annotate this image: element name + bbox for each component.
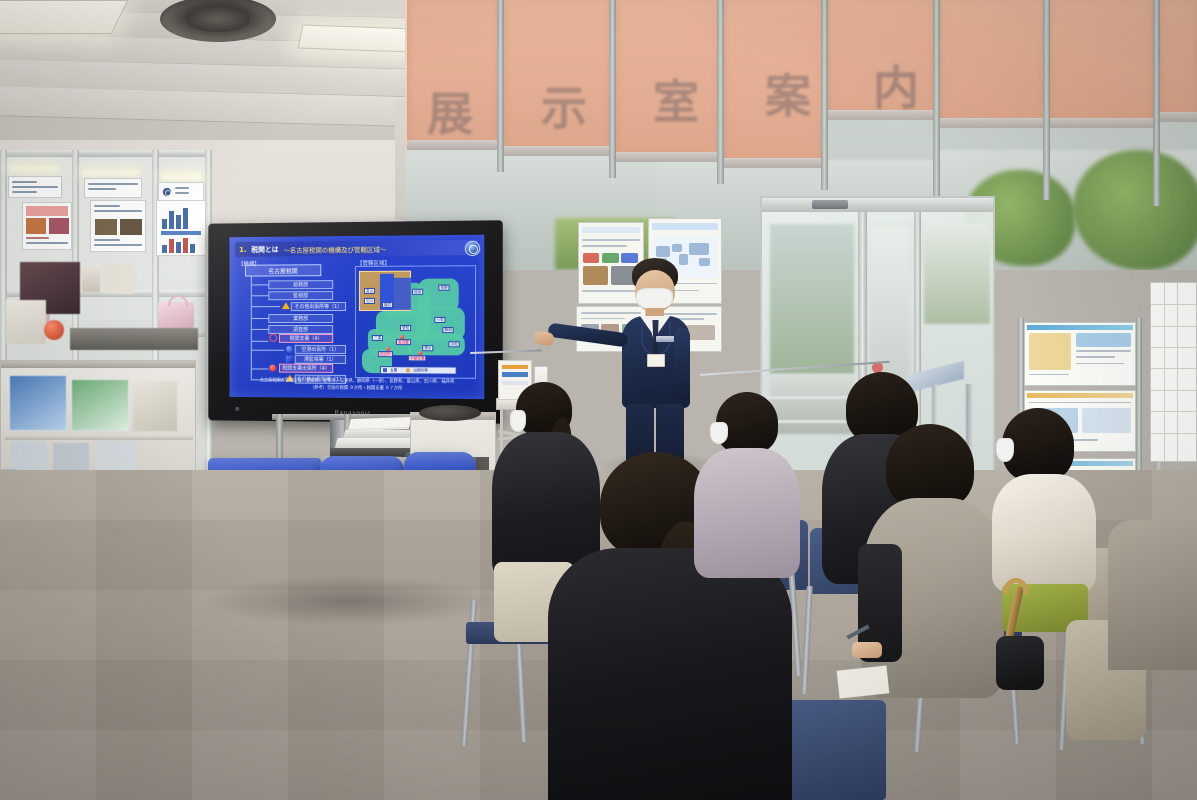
map-chip: 石川 [364,298,375,305]
customs-emblem-icon [162,187,172,197]
map-chip: 小牧 [434,317,445,324]
org-node: 港監視署（1） [295,355,346,364]
face-mask [510,410,526,432]
exhibit-poster [9,375,67,431]
attendee-top [694,448,800,578]
presenter-hand [533,331,555,347]
exhibit-photo-poster [90,200,146,252]
map-chip: 三重 [372,335,383,342]
legend-square-icon [383,368,387,372]
power-led-icon [235,407,239,411]
cable-bundle [419,405,481,421]
wall-sign-char: 室 [653,66,699,132]
handout-papers [349,417,412,429]
org-node: 調査部 [268,325,333,334]
map-inset: 富山 石川 福井 [359,271,411,311]
marker-square-blue-icon [286,356,293,363]
face-mask [636,288,673,310]
side-shelf [0,360,196,482]
presenter-arm [674,328,690,402]
org-node: 業務部 [268,314,333,323]
exhibit-poster [84,178,142,198]
roller-blind[interactable] [1047,0,1157,128]
exhibit-poster [71,379,129,431]
org-node: 総務部 [268,280,333,289]
attendee-hand [852,642,882,658]
attendee-top [992,474,1096,592]
org-root-node: 名古屋税関 [245,264,321,276]
notepad [837,665,890,698]
marker-ring-red-icon [269,334,277,342]
schedule-whiteboard [1150,282,1197,462]
map-chip: 中部空港 [408,355,427,362]
ceiling-light [0,0,128,34]
customs-emblem-icon [465,241,480,256]
org-node: 空港出張所（1） [295,345,346,354]
org-chart: 名古屋税関 総務部 監視部 その他出張所等（1） 業務部 調査部 税関 [239,264,349,384]
wall-sign-char: 示 [541,72,587,138]
plasma-display[interactable]: 1. 税関とは 〜名古屋税関の機構及び管轄区域〜 【機構】 【管轄区域】 名古屋… [208,220,502,423]
rack-poster [1024,322,1136,386]
map-chip: 清水 [422,345,433,352]
map-chip: 愛知 [400,325,411,332]
map-pin-icon [386,347,390,351]
map-chip: 静岡 [442,327,453,334]
legend-label: 支署 [390,368,397,373]
map-legend: 支署 出張所等 [380,366,457,374]
slide-title-bar: 1. 税関とは 〜名古屋税関の機構及び管轄区域〜 [235,240,478,257]
legend-label: 出張所等 [413,368,428,373]
org-node: 税関支署出張所（4） [279,364,333,373]
id-card [647,354,665,367]
jurisdiction-map: 富山 石川 福井 岐阜 長野 愛知 静岡 三重 名古屋 四日市 清水 浜松 中部… [355,265,476,379]
slide-title: 税関とは [251,244,278,254]
marker-dot-red-icon [269,365,276,372]
face-mask [710,422,728,444]
attendee-right-vest [862,424,1012,714]
wall-sign-char: 展 [427,78,473,144]
wall-sign-char: 内 [873,52,919,118]
legend-circle-icon [406,368,410,372]
exhibit-item [44,320,64,340]
warning-icon [282,302,290,309]
map-chip: 長野 [438,285,449,292]
map-chip: 浜松 [449,341,460,348]
map-chip: 名古屋 [396,339,411,346]
slide-subtitle: 〜名古屋税関の機構及び管轄区域〜 [283,243,386,254]
map-pin-icon [418,351,422,355]
wall-sign-char: 案 [765,60,811,126]
attendee-far-right [1108,520,1197,720]
map-chip: 福井 [382,302,393,309]
map-pin-icon [400,335,404,339]
org-node: その他出張所等（1） [291,302,346,311]
face-mask [996,438,1014,462]
slide-content: 1. 税関とは 〜名古屋税関の機構及び管轄区域〜 【機構】 【管轄区域】 名古屋… [229,235,484,399]
slide-footnote: 名古屋税関の管轄区域：愛知県、岐阜県、三重県、静岡県（一部）、長野県、富山県、石… [241,378,474,393]
roller-blind[interactable] [1157,0,1197,122]
map-chip: 岐阜 [412,289,423,296]
attendee-mid-left [692,392,802,592]
door-sensor [812,200,848,209]
exhibit-photo-poster [22,202,72,250]
scene-root: 展 示 室 案 内 [0,0,1197,800]
roller-blind[interactable] [937,0,1047,128]
org-node: 監視部 [268,291,333,300]
map-chip: 富山 [364,288,375,295]
presentation-screen: 1. 税関とは 〜名古屋税関の機構及び管轄区域〜 【機構】 【管轄区域】 名古屋… [229,235,484,399]
exhibit-poster [8,176,62,198]
exhibit-handbag [158,302,194,330]
org-node: 税関支署（4） [279,334,333,343]
map-chip: 四日市 [378,351,393,358]
slide-section-number: 1. [239,245,246,253]
statistics-chart-poster [156,200,206,256]
marker-dot-blue-icon [286,346,293,353]
handbag [996,636,1044,690]
attendee-top [1108,520,1197,670]
